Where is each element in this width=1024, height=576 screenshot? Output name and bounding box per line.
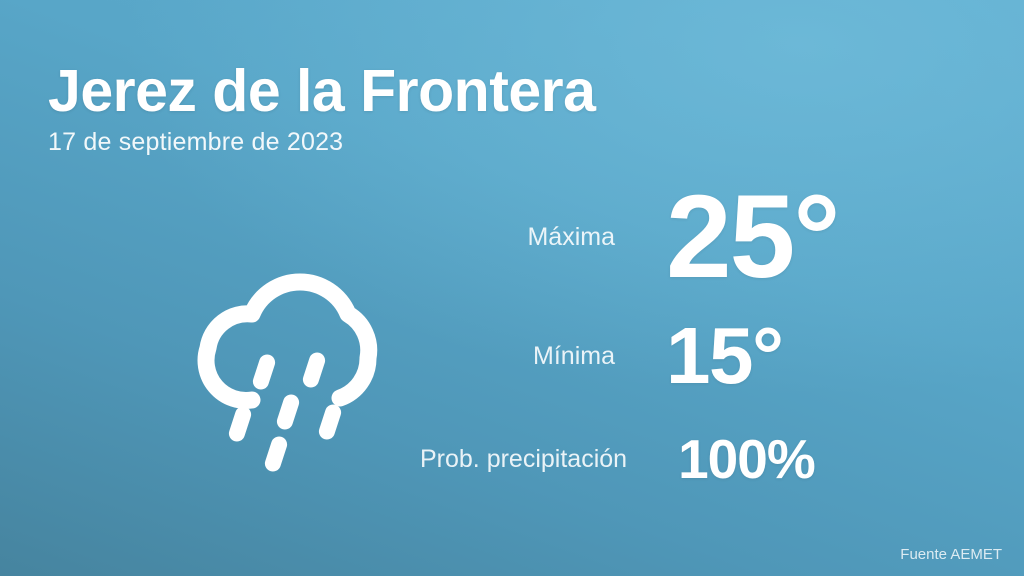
stat-label-maxima: Máxima bbox=[420, 223, 666, 252]
stat-row-maxima: Máxima 25° bbox=[420, 178, 920, 296]
weather-stats: Máxima 25° Mínima 15° Prob. precipitació… bbox=[420, 178, 920, 502]
stat-row-precipitacion: Prob. precipitación 100% bbox=[420, 416, 920, 502]
stat-label-minima: Mínima bbox=[420, 342, 666, 371]
stat-label-precipitacion: Prob. precipitación bbox=[420, 445, 678, 474]
stat-value-minima: 15° bbox=[666, 316, 920, 396]
rain-cloud-icon bbox=[176, 256, 396, 472]
weather-card: Jerez de la Frontera 17 de septiembre de… bbox=[0, 0, 1024, 576]
stat-row-minima: Mínima 15° bbox=[420, 296, 920, 416]
stat-value-maxima: 25° bbox=[666, 178, 920, 296]
date-subtitle: 17 de septiembre de 2023 bbox=[48, 130, 595, 155]
card-header: Jerez de la Frontera 17 de septiembre de… bbox=[48, 62, 595, 155]
stat-value-precipitacion: 100% bbox=[678, 432, 920, 487]
source-credit: Fuente AEMET bbox=[900, 546, 1002, 563]
page-title: Jerez de la Frontera bbox=[48, 62, 595, 121]
